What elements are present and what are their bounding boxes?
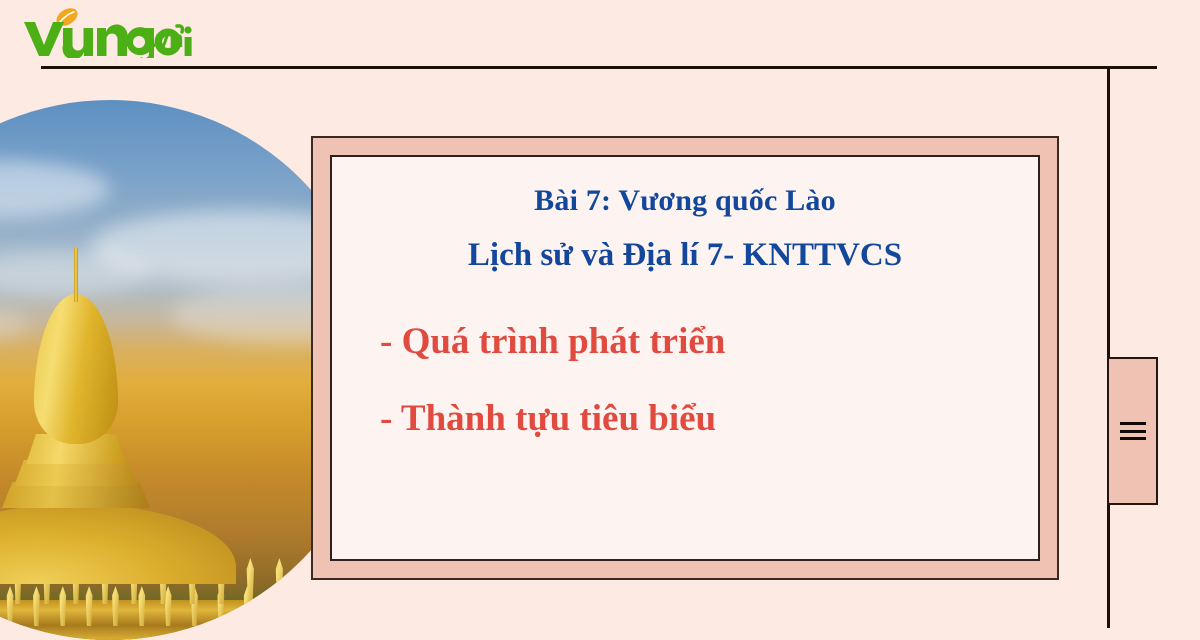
- stupa-spire: [74, 248, 78, 302]
- stupa-dome: [0, 504, 236, 584]
- subject-title: Lịch sử và Địa lí 7- KNTTVCS: [362, 235, 1008, 276]
- cloud-shape: [0, 305, 30, 345]
- header-divider: [41, 66, 1157, 69]
- cloud-shape: [0, 160, 110, 218]
- slide-card: Bài 7: Vương quốc Lào Lịch sử và Địa lí …: [311, 136, 1059, 580]
- slide-card-inner: Bài 7: Vương quốc Lào Lịch sử và Địa lí …: [330, 155, 1040, 561]
- logo-suffix: .vn: [150, 26, 183, 54]
- list-item: - Thành tựu tiêu biểu: [380, 399, 1008, 440]
- bullet-list: - Quá trình phát triển - Thành tựu tiêu …: [362, 322, 1008, 439]
- hamburger-icon: [1120, 422, 1146, 440]
- page-header: Vungoi .vn: [0, 0, 1200, 70]
- lesson-title: Bài 7: Vương quốc Lào: [362, 183, 1008, 219]
- menu-button[interactable]: [1107, 357, 1158, 505]
- list-item: - Quá trình phát triển: [380, 322, 1008, 363]
- stupa-bulb: [34, 294, 118, 444]
- right-rail-divider: [1107, 66, 1110, 628]
- slide-title-block: Bài 7: Vương quốc Lào Lịch sử và Địa lí …: [362, 183, 1008, 276]
